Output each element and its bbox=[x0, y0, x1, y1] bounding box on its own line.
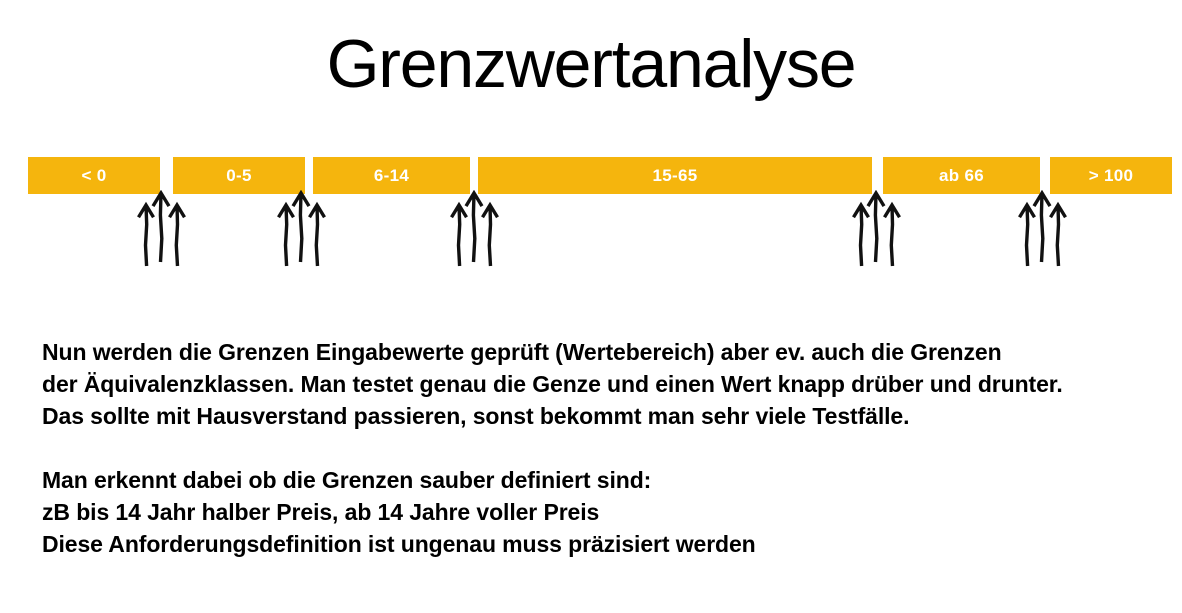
body-line: Diese Anforderungsdefinition ist ungenau… bbox=[42, 528, 1152, 560]
band-segment-label: 15-65 bbox=[653, 167, 698, 184]
band-segment-label: 0-5 bbox=[226, 167, 251, 184]
band-segment[interactable]: > 100 bbox=[1050, 157, 1172, 194]
body-line: Nun werden die Grenzen Eingabewerte gepr… bbox=[42, 336, 1152, 368]
equivalence-class-band: < 00-56-1415-65ab 66> 100 bbox=[0, 157, 1182, 194]
triple-up-arrow-icon bbox=[134, 190, 190, 272]
band-segment-label: 6-14 bbox=[374, 167, 409, 184]
band-segment[interactable]: ab 66 bbox=[883, 157, 1040, 194]
body-copy: Nun werden die Grenzen Eingabewerte gepr… bbox=[42, 336, 1152, 560]
body-line: Man erkennt dabei ob die Grenzen sauber … bbox=[42, 464, 1152, 496]
band-segment-label: ab 66 bbox=[939, 167, 984, 184]
body-paragraph: Man erkennt dabei ob die Grenzen sauber … bbox=[42, 464, 1152, 560]
triple-up-arrow-icon bbox=[274, 190, 330, 272]
triple-up-arrow-icon bbox=[849, 190, 905, 272]
band-segment[interactable]: 6-14 bbox=[313, 157, 470, 194]
body-line: der Äquivalenzklassen. Man testet genau … bbox=[42, 368, 1152, 400]
boundary-arrow-layer bbox=[0, 190, 1182, 280]
band-segment-label: > 100 bbox=[1089, 167, 1134, 184]
band-segment-label: < 0 bbox=[81, 167, 106, 184]
band-segment[interactable]: 0-5 bbox=[173, 157, 305, 194]
band-segment[interactable]: 15-65 bbox=[478, 157, 872, 194]
page-title: Grenzwertanalyse bbox=[0, 26, 1182, 102]
body-paragraph: Nun werden die Grenzen Eingabewerte gepr… bbox=[42, 336, 1152, 432]
band-segment[interactable]: < 0 bbox=[28, 157, 160, 194]
body-line: Das sollte mit Hausverstand passieren, s… bbox=[42, 400, 1152, 432]
triple-up-arrow-icon bbox=[447, 190, 503, 272]
triple-up-arrow-icon bbox=[1015, 190, 1071, 272]
body-line: zB bis 14 Jahr halber Preis, ab 14 Jahre… bbox=[42, 496, 1152, 528]
